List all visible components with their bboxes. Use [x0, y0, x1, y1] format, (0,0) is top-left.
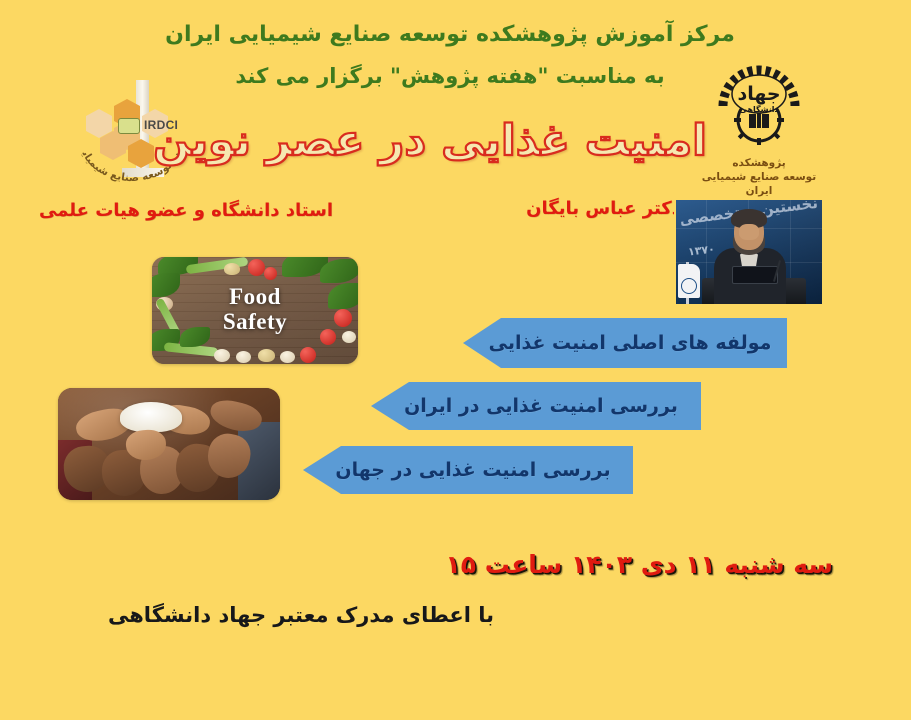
food-safety-caption: Food Safety — [152, 285, 358, 335]
food-safety-photo: Food Safety — [152, 257, 358, 364]
topic-banner-2-label: بررسی امنیت غذایی در ایران — [376, 395, 696, 417]
jahad-logo-caption: پژوهشکده توسعه صنایع شیمیایی ایران — [695, 156, 823, 199]
topic-banner-2[interactable]: بررسی امنیت غذایی در ایران — [371, 382, 701, 430]
topic-banner-3-label: بررسی امنیت غذایی در جهان — [307, 459, 628, 481]
event-poster: مرکز آموزش پژوهشکده توسعه صنایع شیمیایی … — [0, 0, 911, 720]
jahad-caption-line-1: پژوهشکده — [695, 156, 823, 170]
topic-banner-1-label: مولفه های اصلی امنیت غذایی — [461, 332, 790, 354]
laptop-icon — [732, 266, 778, 284]
speaker-name: دکتر عباس بایگان — [526, 198, 681, 219]
header-line-1: مرکز آموزش پژوهشکده توسعه صنایع شیمیایی … — [150, 22, 750, 47]
jahad-emblem-text: جهاد — [737, 83, 780, 105]
rice-pile — [120, 402, 182, 432]
food-safety-caption-line-2: Safety — [152, 310, 358, 335]
food-safety-caption-line-1: Food — [152, 285, 358, 310]
event-date-time: سه شنبه ۱۱ دی ۱۴۰۳ ساعت ۱۵ — [446, 550, 834, 579]
poster-title: امنیت غذایی در عصر نوین — [150, 116, 710, 166]
jahad-emblem-icon: جهاد دانشگاهی — [713, 62, 805, 154]
jahad-emblem-subtext: دانشگاهی — [739, 104, 778, 114]
speaker-photo: نخستین تخصصی جهاد ۱۳۷۰ — [674, 198, 824, 306]
jahad-caption-line-2: توسعه صنایع شیمیایی ایران — [695, 170, 823, 198]
topic-banner-1[interactable]: مولفه های اصلی امنیت غذایی — [463, 318, 787, 368]
speaker-face — [739, 224, 759, 240]
jahad-daneshgahi-logo: جهاد دانشگاهی پژوهشکده توسعه صنایع شیمیا… — [695, 62, 823, 190]
flag-seal-icon — [681, 278, 697, 294]
irdci-seal-icon — [118, 118, 140, 134]
speaker-position: استاد دانشگاه و عضو هیات علمی — [39, 200, 333, 221]
hands-rice-photo — [58, 388, 280, 500]
certificate-note: با اعطای مدرک معتبر جهاد دانشگاهی — [108, 603, 494, 627]
header-line-2: به مناسبت "هفته پژوهش" برگزار می کند — [170, 64, 730, 88]
topic-banner-3[interactable]: بررسی امنیت غذایی در جهان — [303, 446, 633, 494]
